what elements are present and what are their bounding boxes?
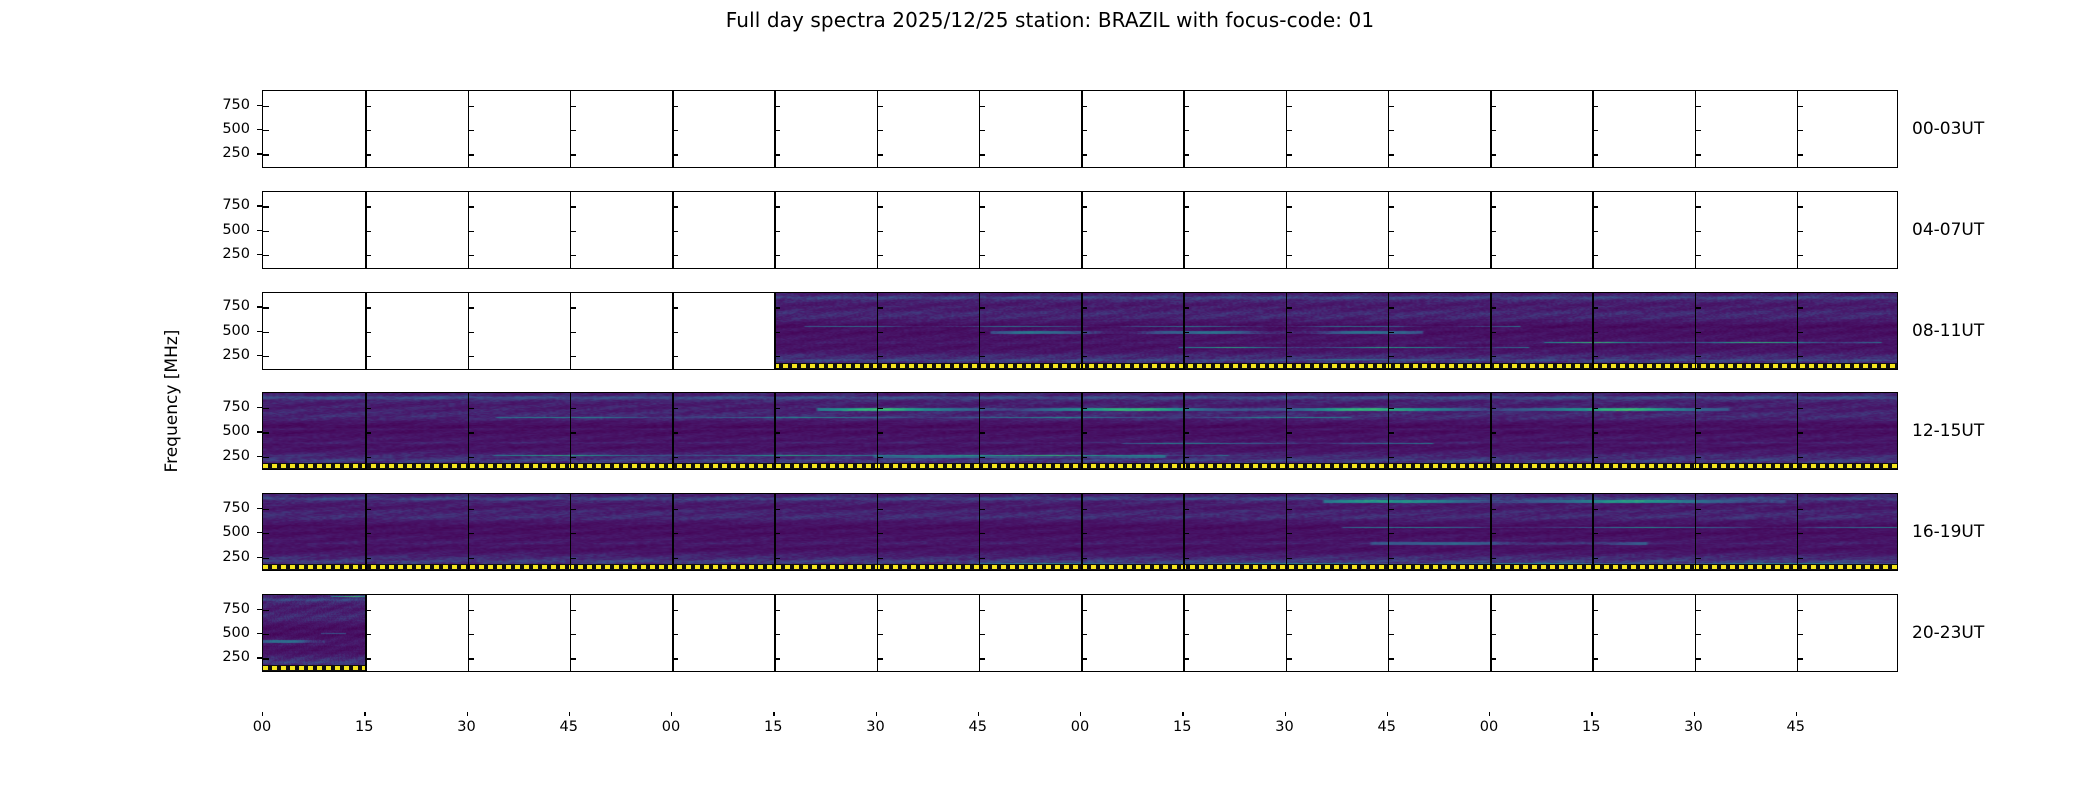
- y-tick-mark: [1286, 356, 1292, 357]
- y-tick-mark: [1797, 610, 1803, 611]
- y-tick-mark-outer: [257, 331, 262, 332]
- y-tick-mark: [365, 457, 371, 458]
- y-tick-mark: [1797, 432, 1803, 433]
- y-tick-mark: [1797, 206, 1803, 207]
- y-tick-mark: [1081, 255, 1087, 256]
- y-tick-label: 250: [222, 549, 250, 565]
- ut-row-04-07ut: 250500750: [262, 191, 1898, 269]
- y-tick-mark: [672, 154, 678, 155]
- y-tick-mark: [979, 255, 985, 256]
- y-tick-mark: [570, 658, 576, 659]
- y-tick-mark: [1388, 206, 1394, 207]
- y-tick-mark: [672, 610, 678, 611]
- y-tick-mark: [672, 130, 678, 131]
- y-tick-mark: [1592, 356, 1598, 357]
- y-tick-mark: [1695, 457, 1701, 458]
- y-tick-mark: [570, 356, 576, 357]
- y-tick-mark: [672, 231, 678, 232]
- y-tick-mark-outer: [257, 105, 262, 106]
- y-tick-mark: [1592, 610, 1598, 611]
- y-tick-label: 750: [222, 298, 250, 314]
- y-tick-mark: [468, 106, 474, 107]
- y-tick-label: 500: [222, 524, 250, 540]
- y-tick-mark: [1490, 408, 1496, 409]
- y-tick-mark: [1081, 509, 1087, 510]
- x-tick-label: 30: [1684, 719, 1702, 735]
- y-tick-mark: [1081, 558, 1087, 559]
- y-tick-mark: [979, 432, 985, 433]
- y-tick-mark: [1286, 509, 1292, 510]
- y-tick-mark: [1592, 509, 1598, 510]
- y-tick-mark: [877, 558, 883, 559]
- row-frame: [262, 594, 1898, 672]
- y-tick-mark: [468, 658, 474, 659]
- y-tick-mark: [570, 106, 576, 107]
- y-tick-mark: [1592, 106, 1598, 107]
- x-tick-label: 30: [457, 719, 475, 735]
- spectrogram-data: [263, 595, 365, 671]
- ut-block-label: 12-15UT: [1912, 421, 1984, 441]
- y-tick-mark: [263, 307, 269, 308]
- y-tick-mark: [1797, 356, 1803, 357]
- y-tick-mark-outer: [257, 431, 262, 432]
- y-tick-mark: [672, 558, 678, 559]
- y-tick-mark-outer: [257, 532, 262, 533]
- y-tick-mark: [1388, 154, 1394, 155]
- y-tick-mark: [365, 231, 371, 232]
- y-tick-mark: [1695, 634, 1701, 635]
- y-tick-mark: [979, 408, 985, 409]
- y-tick-mark: [1286, 634, 1292, 635]
- y-tick-mark: [1695, 432, 1701, 433]
- y-tick-mark: [263, 610, 269, 611]
- y-tick-mark: [877, 408, 883, 409]
- y-tick-mark: [1183, 154, 1189, 155]
- y-tick-label: 250: [222, 145, 250, 161]
- y-tick-mark: [365, 356, 371, 357]
- y-tick-mark: [1183, 206, 1189, 207]
- y-tick-label: 750: [222, 399, 250, 415]
- ut-block-label: 16-19UT: [1912, 522, 1984, 542]
- y-tick-mark: [877, 457, 883, 458]
- y-tick-mark: [570, 457, 576, 458]
- y-tick-mark: [468, 130, 474, 131]
- y-tick-mark: [1592, 255, 1598, 256]
- y-tick-mark: [1490, 206, 1496, 207]
- ut-row-00-03ut: 250500750: [262, 90, 1898, 168]
- x-tick-mark: [1080, 712, 1081, 716]
- y-tick-mark: [877, 634, 883, 635]
- x-tick-mark: [1182, 712, 1183, 716]
- y-tick-mark: [672, 533, 678, 534]
- y-tick-mark: [672, 658, 678, 659]
- y-tick-label: 250: [222, 246, 250, 262]
- x-tick-label: 00: [1071, 719, 1089, 735]
- spectrogram-figure: Full day spectra 2025/12/25 station: BRA…: [0, 0, 2100, 800]
- y-tick-mark: [1797, 307, 1803, 308]
- y-tick-mark: [877, 610, 883, 611]
- x-tick-mark: [1285, 712, 1286, 716]
- y-tick-mark-outer: [257, 230, 262, 231]
- y-tick-mark: [1183, 457, 1189, 458]
- y-tick-mark-outer: [257, 306, 262, 307]
- y-tick-mark: [365, 432, 371, 433]
- y-tick-mark: [570, 307, 576, 308]
- y-tick-mark: [570, 432, 576, 433]
- y-tick-mark: [468, 432, 474, 433]
- y-tick-mark: [774, 408, 780, 409]
- y-tick-mark: [365, 130, 371, 131]
- y-tick-mark: [1797, 154, 1803, 155]
- y-tick-mark: [365, 634, 371, 635]
- y-tick-mark: [1695, 658, 1701, 659]
- y-tick-mark: [365, 658, 371, 659]
- y-tick-mark: [1081, 408, 1087, 409]
- y-tick-label: 250: [222, 448, 250, 464]
- y-tick-mark: [1490, 658, 1496, 659]
- y-tick-mark: [877, 130, 883, 131]
- y-tick-mark: [263, 432, 269, 433]
- y-tick-mark: [1797, 332, 1803, 333]
- y-tick-mark: [1286, 408, 1292, 409]
- y-tick-mark-outer: [257, 557, 262, 558]
- x-tick-mark: [1489, 712, 1490, 716]
- y-tick-mark-outer: [257, 254, 262, 255]
- y-tick-mark: [570, 408, 576, 409]
- y-tick-mark: [979, 154, 985, 155]
- y-tick-mark: [877, 332, 883, 333]
- y-tick-mark: [365, 610, 371, 611]
- y-tick-mark: [1695, 610, 1701, 611]
- y-tick-mark: [774, 432, 780, 433]
- y-tick-mark: [877, 154, 883, 155]
- y-tick-mark: [1592, 408, 1598, 409]
- y-tick-mark: [672, 307, 678, 308]
- y-tick-mark: [979, 356, 985, 357]
- y-tick-mark: [570, 231, 576, 232]
- spectrogram-canvas: [774, 293, 1898, 369]
- y-tick-mark: [570, 255, 576, 256]
- y-tick-mark: [1695, 154, 1701, 155]
- y-tick-mark: [774, 332, 780, 333]
- y-tick-mark: [1490, 332, 1496, 333]
- y-tick-mark: [1286, 130, 1292, 131]
- y-tick-mark: [1592, 558, 1598, 559]
- y-tick-mark: [1388, 533, 1394, 534]
- y-tick-mark: [1183, 610, 1189, 611]
- y-tick-mark: [1081, 432, 1087, 433]
- y-tick-mark: [877, 307, 883, 308]
- y-tick-mark: [468, 206, 474, 207]
- coverage-marker: [263, 665, 365, 671]
- y-tick-mark: [877, 658, 883, 659]
- y-tick-mark: [672, 634, 678, 635]
- y-tick-mark: [263, 634, 269, 635]
- y-tick-mark: [1695, 533, 1701, 534]
- y-tick-mark: [1388, 307, 1394, 308]
- y-tick-mark: [570, 332, 576, 333]
- y-tick-mark: [365, 509, 371, 510]
- y-tick-mark: [672, 255, 678, 256]
- ut-block-label: 20-23UT: [1912, 623, 1984, 643]
- y-tick-mark: [1081, 634, 1087, 635]
- plot-area: 25050075000-03UT25050075004-07UT25050075…: [262, 90, 1898, 712]
- y-tick-mark: [1286, 533, 1292, 534]
- y-tick-mark: [1183, 130, 1189, 131]
- y-tick-mark: [1081, 356, 1087, 357]
- y-tick-mark: [1081, 658, 1087, 659]
- y-tick-mark: [1081, 457, 1087, 458]
- y-tick-mark: [1183, 634, 1189, 635]
- y-tick-mark: [1695, 231, 1701, 232]
- y-tick-mark: [774, 509, 780, 510]
- y-tick-mark: [1695, 509, 1701, 510]
- y-tick-mark: [1490, 307, 1496, 308]
- y-tick-mark: [570, 634, 576, 635]
- y-tick-mark: [263, 356, 269, 357]
- y-tick-mark: [1286, 255, 1292, 256]
- y-tick-mark: [1081, 231, 1087, 232]
- y-tick-mark: [570, 154, 576, 155]
- y-tick-mark: [570, 130, 576, 131]
- y-tick-mark: [979, 106, 985, 107]
- y-tick-label: 500: [222, 625, 250, 641]
- y-tick-mark: [1695, 332, 1701, 333]
- y-tick-mark: [672, 332, 678, 333]
- x-tick-label: 15: [1173, 719, 1191, 735]
- y-tick-mark: [1797, 509, 1803, 510]
- ut-block-label: 00-03UT: [1912, 119, 1984, 139]
- y-tick-mark: [1183, 332, 1189, 333]
- y-tick-mark: [1286, 154, 1292, 155]
- y-tick-mark-outer: [257, 609, 262, 610]
- y-tick-mark: [1286, 332, 1292, 333]
- y-tick-mark: [774, 206, 780, 207]
- y-tick-mark-outer: [257, 657, 262, 658]
- y-tick-mark: [1797, 231, 1803, 232]
- row-frame: [262, 191, 1898, 269]
- y-tick-mark: [365, 154, 371, 155]
- y-tick-mark: [1081, 307, 1087, 308]
- y-tick-label: 500: [222, 423, 250, 439]
- y-tick-mark: [979, 206, 985, 207]
- y-tick-mark: [1183, 307, 1189, 308]
- y-tick-mark: [570, 610, 576, 611]
- y-tick-mark: [979, 457, 985, 458]
- y-tick-mark: [774, 231, 780, 232]
- y-tick-mark: [1797, 457, 1803, 458]
- y-tick-mark: [979, 509, 985, 510]
- y-tick-mark: [1388, 106, 1394, 107]
- y-tick-mark: [365, 307, 371, 308]
- y-tick-mark: [1286, 106, 1292, 107]
- y-tick-mark: [263, 206, 269, 207]
- x-tick-label: 45: [1378, 719, 1396, 735]
- row-frame: [262, 493, 1898, 571]
- x-tick-mark: [364, 712, 365, 716]
- y-tick-mark: [1592, 533, 1598, 534]
- y-tick-mark: [570, 533, 576, 534]
- y-tick-mark: [1388, 634, 1394, 635]
- x-tick-label: 45: [1787, 719, 1805, 735]
- y-tick-mark: [1286, 307, 1292, 308]
- ut-row-12-15ut: 250500750: [262, 392, 1898, 470]
- y-tick-mark: [979, 231, 985, 232]
- y-tick-mark: [1490, 154, 1496, 155]
- y-tick-mark: [1490, 106, 1496, 107]
- row-frame: [262, 90, 1898, 168]
- y-tick-mark: [263, 533, 269, 534]
- ut-row-20-23ut: 250500750: [262, 594, 1898, 672]
- y-tick-mark: [1592, 154, 1598, 155]
- y-tick-mark: [1490, 432, 1496, 433]
- y-tick-mark-outer: [257, 205, 262, 206]
- y-tick-mark: [1695, 106, 1701, 107]
- x-tick-mark: [876, 712, 877, 716]
- y-tick-mark: [365, 106, 371, 107]
- y-tick-mark: [1490, 457, 1496, 458]
- x-tick-label: 15: [1582, 719, 1600, 735]
- y-tick-mark: [468, 255, 474, 256]
- y-tick-mark: [1592, 432, 1598, 433]
- y-tick-mark: [979, 332, 985, 333]
- y-tick-mark: [1490, 255, 1496, 256]
- y-tick-mark: [1388, 356, 1394, 357]
- y-tick-mark: [1183, 533, 1189, 534]
- y-tick-mark: [263, 457, 269, 458]
- y-tick-mark: [365, 533, 371, 534]
- y-tick-mark: [468, 332, 474, 333]
- y-tick-mark: [979, 307, 985, 308]
- y-tick-mark: [468, 610, 474, 611]
- y-tick-mark: [1592, 658, 1598, 659]
- y-tick-mark: [774, 658, 780, 659]
- y-tick-mark: [1797, 658, 1803, 659]
- y-tick-mark: [468, 533, 474, 534]
- y-tick-mark: [774, 154, 780, 155]
- y-tick-mark: [1183, 106, 1189, 107]
- y-tick-mark: [774, 457, 780, 458]
- y-tick-mark: [1081, 533, 1087, 534]
- y-tick-mark: [1388, 231, 1394, 232]
- y-tick-mark: [1183, 231, 1189, 232]
- x-tick-label: 15: [764, 719, 782, 735]
- y-tick-mark: [365, 408, 371, 409]
- y-tick-mark: [1797, 558, 1803, 559]
- y-tick-mark: [1797, 634, 1803, 635]
- y-tick-mark: [877, 432, 883, 433]
- y-tick-mark: [1490, 231, 1496, 232]
- y-tick-mark: [1490, 509, 1496, 510]
- y-tick-mark: [672, 408, 678, 409]
- y-tick-mark: [1695, 206, 1701, 207]
- y-tick-mark: [1490, 558, 1496, 559]
- y-tick-mark: [1388, 558, 1394, 559]
- y-tick-label: 500: [222, 323, 250, 339]
- y-tick-mark: [774, 106, 780, 107]
- spectrogram-canvas: [263, 595, 365, 671]
- y-tick-label: 250: [222, 347, 250, 363]
- y-tick-mark: [263, 558, 269, 559]
- y-tick-mark: [1388, 255, 1394, 256]
- y-tick-mark: [672, 206, 678, 207]
- x-tick-mark: [978, 712, 979, 716]
- x-tick-mark: [1796, 712, 1797, 716]
- y-tick-mark: [1388, 432, 1394, 433]
- y-tick-mark-outer: [257, 633, 262, 634]
- y-tick-mark: [468, 356, 474, 357]
- y-tick-mark: [1592, 130, 1598, 131]
- y-tick-mark: [1695, 307, 1701, 308]
- x-tick-label: 00: [253, 719, 271, 735]
- y-tick-label: 750: [222, 500, 250, 516]
- y-tick-mark: [1286, 610, 1292, 611]
- y-tick-mark-outer: [257, 355, 262, 356]
- y-tick-mark: [1695, 408, 1701, 409]
- y-tick-mark: [468, 457, 474, 458]
- y-tick-mark: [1183, 408, 1189, 409]
- y-tick-mark: [1490, 610, 1496, 611]
- y-tick-mark: [877, 231, 883, 232]
- y-tick-mark: [570, 509, 576, 510]
- y-tick-mark: [1490, 356, 1496, 357]
- y-tick-mark: [1592, 332, 1598, 333]
- x-tick-label: 30: [1275, 719, 1293, 735]
- y-tick-label: 750: [222, 601, 250, 617]
- x-tick-mark: [467, 712, 468, 716]
- y-tick-mark: [263, 154, 269, 155]
- y-tick-mark: [263, 332, 269, 333]
- y-tick-mark: [1490, 130, 1496, 131]
- y-tick-mark: [1797, 408, 1803, 409]
- y-tick-mark-outer: [257, 456, 262, 457]
- y-tick-mark: [263, 658, 269, 659]
- row-frame: [262, 392, 1898, 470]
- x-tick-label: 00: [1480, 719, 1498, 735]
- y-tick-mark: [979, 533, 985, 534]
- x-tick-mark: [1387, 712, 1388, 716]
- y-tick-mark: [1695, 130, 1701, 131]
- y-tick-mark: [1286, 231, 1292, 232]
- y-tick-mark: [468, 558, 474, 559]
- y-tick-mark: [1286, 658, 1292, 659]
- y-tick-mark: [877, 356, 883, 357]
- y-tick-mark: [1388, 658, 1394, 659]
- spectrogram-data: [774, 293, 1898, 369]
- y-tick-mark-outer: [257, 129, 262, 130]
- y-tick-mark: [979, 558, 985, 559]
- y-tick-mark: [1286, 432, 1292, 433]
- y-tick-mark-outer: [257, 153, 262, 154]
- y-tick-mark: [1695, 558, 1701, 559]
- page-title: Full day spectra 2025/12/25 station: BRA…: [0, 8, 2100, 32]
- y-tick-mark: [774, 130, 780, 131]
- y-tick-mark: [365, 255, 371, 256]
- row-frame: [262, 292, 1898, 370]
- y-tick-mark: [877, 533, 883, 534]
- y-tick-mark: [1388, 130, 1394, 131]
- y-tick-mark: [1286, 558, 1292, 559]
- y-tick-mark: [1695, 255, 1701, 256]
- y-tick-mark: [1081, 610, 1087, 611]
- ut-block-label: 08-11UT: [1912, 321, 1984, 341]
- x-tick-mark: [262, 712, 263, 716]
- y-tick-mark: [1797, 255, 1803, 256]
- y-tick-mark: [1183, 558, 1189, 559]
- y-tick-mark: [1183, 509, 1189, 510]
- y-tick-mark: [468, 408, 474, 409]
- y-tick-mark: [1183, 356, 1189, 357]
